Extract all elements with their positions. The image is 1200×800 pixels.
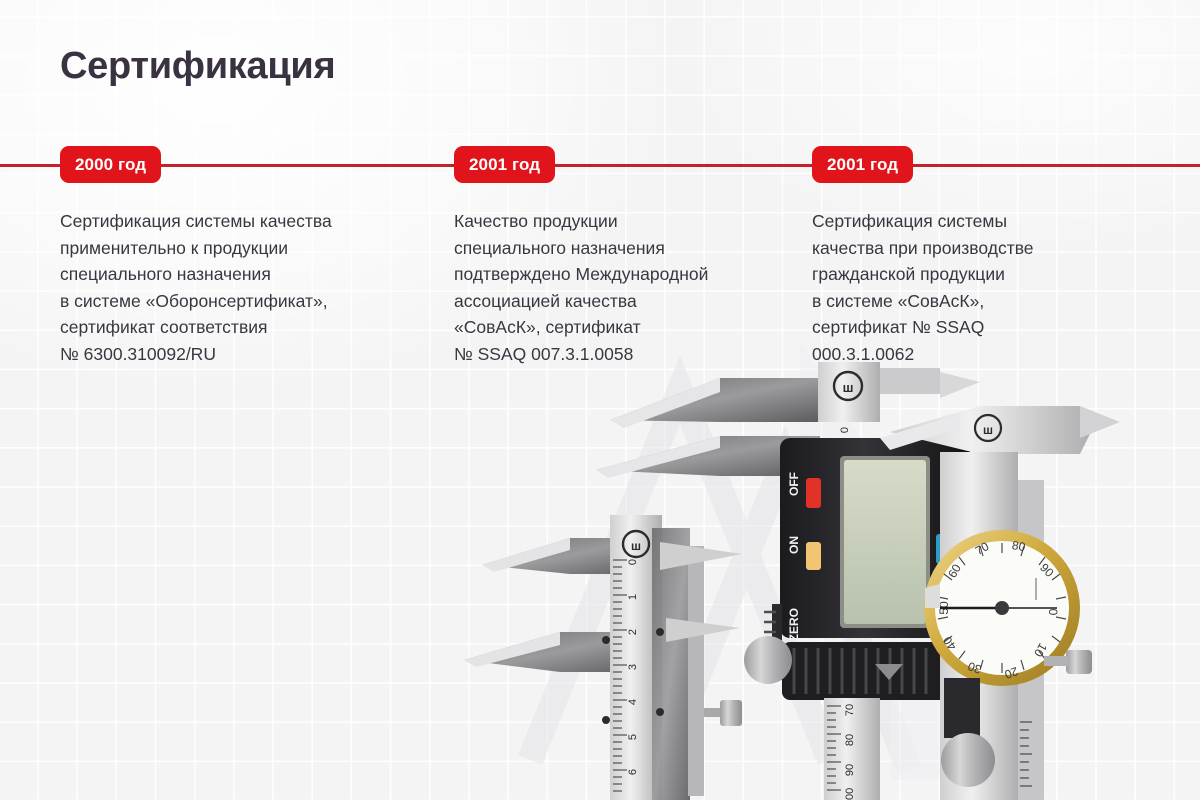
timeline: 2000 год 2001 год 2001 год (0, 146, 1200, 186)
year-badge-2000[interactable]: 2000 год (60, 146, 161, 183)
certification-text-2: Качество продукции специального назначен… (454, 208, 814, 368)
certification-slide: Сертификация 2000 год 2001 год 2001 год … (0, 0, 1200, 800)
year-badge-2001-b[interactable]: 2001 год (812, 146, 913, 183)
year-badge-2001-a[interactable]: 2001 год (454, 146, 555, 183)
certification-text-3: Сертификация системы качества при произв… (812, 208, 1162, 368)
background-grid (0, 0, 1200, 800)
certification-text-1: Сертификация системы качества применител… (60, 208, 440, 368)
page-title: Сертификация (60, 45, 335, 88)
timeline-rule (0, 164, 1200, 167)
